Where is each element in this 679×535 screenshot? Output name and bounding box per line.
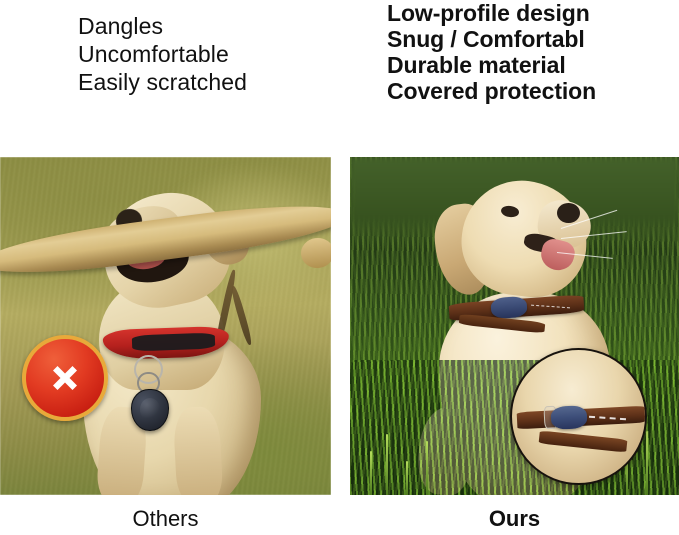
pros-heading-list: Low-profile design Snug / Comfortabl Dur… xyxy=(387,0,596,104)
cons-line-2: Uncomfortable xyxy=(78,40,247,68)
grass-blade xyxy=(386,434,388,495)
grass-blade xyxy=(646,431,648,495)
caption-ours: Ours xyxy=(350,506,679,532)
photo-ours xyxy=(350,157,679,495)
magnified-collar-inset xyxy=(510,348,647,485)
dangling-tracker-tag xyxy=(131,389,169,432)
pros-line-2: Snug / Comfortabl xyxy=(387,26,596,52)
inset-tracker-holder xyxy=(550,405,587,429)
photo-others xyxy=(0,157,331,495)
grass-blade xyxy=(406,461,408,495)
cons-line-3: Easily scratched xyxy=(78,68,247,96)
pros-line-1: Low-profile design xyxy=(387,0,596,26)
cross-badge-icon xyxy=(22,335,108,421)
puppy-nose xyxy=(557,203,580,223)
cons-line-1: Dangles xyxy=(78,12,247,40)
pros-line-3: Durable material xyxy=(387,52,596,78)
photo-others-content xyxy=(0,157,331,495)
grass-blade xyxy=(426,441,428,495)
inset-collar-tail xyxy=(538,431,627,453)
photo-ours-content xyxy=(350,157,679,495)
cons-heading-list: Dangles Uncomfortable Easily scratched xyxy=(78,12,247,96)
caption-others: Others xyxy=(0,506,331,532)
grass-blade xyxy=(370,451,372,495)
comparison-infographic: Dangles Uncomfortable Easily scratched L… xyxy=(0,0,679,535)
pros-line-4: Covered protection xyxy=(387,78,596,104)
